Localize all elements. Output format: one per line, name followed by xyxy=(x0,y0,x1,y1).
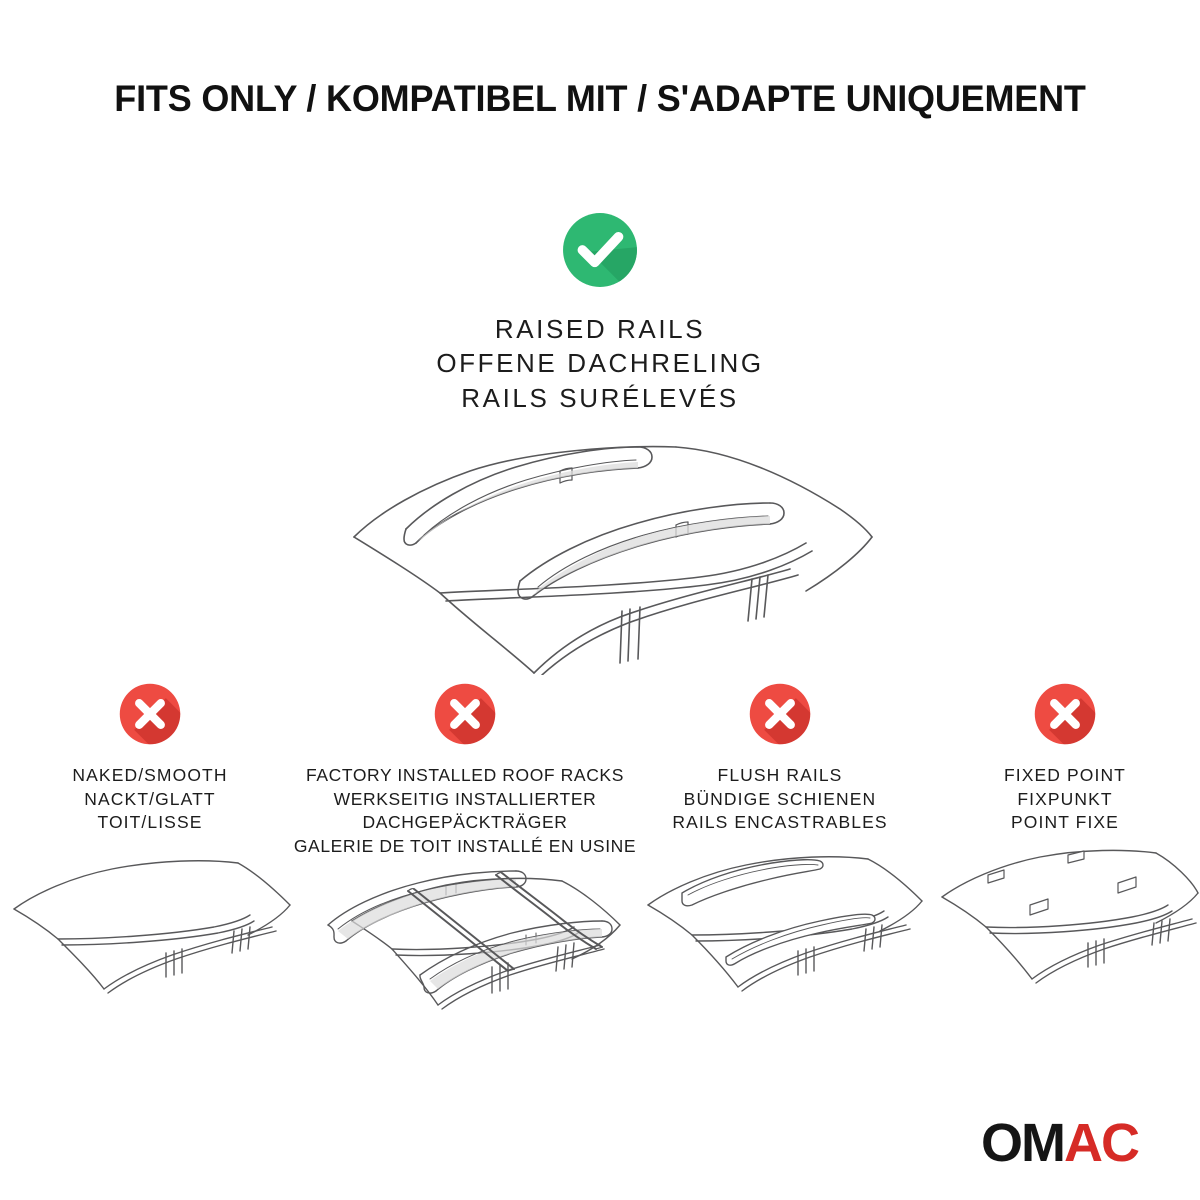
compatible-label: RAISED RAILS OFFENE DACHRELING RAILS SUR… xyxy=(436,312,763,415)
incompatible-label-factory-roof-racks: FACTORY INSTALLED ROOF RACKS WERKSEITIG … xyxy=(294,764,636,859)
logo-text-red: AC xyxy=(1064,1116,1138,1170)
logo-text-black: OM xyxy=(981,1116,1064,1170)
incompatible-section: NAKED/SMOOTH NACKT/GLATT TOIT/LISSE xyxy=(0,678,1200,1097)
label-line: FIXPUNKT xyxy=(1004,788,1126,812)
label-line: TOIT/LISSE xyxy=(72,811,227,835)
check-circle-icon xyxy=(556,206,644,294)
header: FITS ONLY / KOMPATIBEL MIT / S'ADAPTE UN… xyxy=(0,78,1200,119)
x-circle-icon xyxy=(1029,678,1101,750)
compatible-section: RAISED RAILS OFFENE DACHRELING RAILS SUR… xyxy=(0,206,1200,675)
label-line: NAKED/SMOOTH xyxy=(72,764,227,788)
compatible-label-en: RAISED RAILS xyxy=(436,312,763,346)
compatible-label-fr: RAILS SURÉLEVÉS xyxy=(436,381,763,415)
fitment-infographic: FITS ONLY / KOMPATIBEL MIT / S'ADAPTE UN… xyxy=(0,0,1200,1200)
label-line: RAILS ENCASTRABLES xyxy=(672,811,887,835)
compatible-label-de: OFFENE DACHRELING xyxy=(436,346,763,380)
car-roof-flush-rails-illustration xyxy=(630,843,930,1063)
car-roof-raised-rails-illustration xyxy=(320,425,880,675)
incompatible-item-naked-smooth: NAKED/SMOOTH NACKT/GLATT TOIT/LISSE xyxy=(0,678,300,1063)
x-circle-icon xyxy=(114,678,186,750)
x-circle-icon xyxy=(744,678,816,750)
label-line: FIXED POINT xyxy=(1004,764,1126,788)
label-line: NACKT/GLATT xyxy=(72,788,227,812)
label-line: WERKSEITIG INSTALLIERTER xyxy=(294,788,636,812)
label-line: GALERIE DE TOIT INSTALLÉ EN USINE xyxy=(294,835,636,859)
label-line: BÜNDIGE SCHIENEN xyxy=(672,788,887,812)
omac-logo: OMAC xyxy=(981,1116,1138,1170)
incompatible-label-naked-smooth: NAKED/SMOOTH NACKT/GLATT TOIT/LISSE xyxy=(72,764,227,835)
label-line: DACHGEPÄCKTRÄGER xyxy=(294,811,636,835)
label-line: FACTORY INSTALLED ROOF RACKS xyxy=(294,764,636,788)
incompatible-item-fixed-point: FIXED POINT FIXPUNKT POINT FIXE xyxy=(930,678,1200,1063)
car-roof-naked-smooth-illustration xyxy=(0,843,300,1063)
incompatible-item-flush-rails: FLUSH RAILS BÜNDIGE SCHIENEN RAILS ENCAS… xyxy=(630,678,930,1063)
car-roof-fixed-point-illustration xyxy=(930,843,1200,1063)
car-roof-factory-roof-racks-illustration xyxy=(300,867,630,1097)
label-line: POINT FIXE xyxy=(1004,811,1126,835)
page-title: FITS ONLY / KOMPATIBEL MIT / S'ADAPTE UN… xyxy=(24,78,1176,119)
incompatible-label-fixed-point: FIXED POINT FIXPUNKT POINT FIXE xyxy=(1004,764,1126,835)
incompatible-label-flush-rails: FLUSH RAILS BÜNDIGE SCHIENEN RAILS ENCAS… xyxy=(672,764,887,835)
label-line: FLUSH RAILS xyxy=(672,764,887,788)
x-circle-icon xyxy=(429,678,501,750)
incompatible-item-factory-roof-racks: FACTORY INSTALLED ROOF RACKS WERKSEITIG … xyxy=(300,678,630,1097)
